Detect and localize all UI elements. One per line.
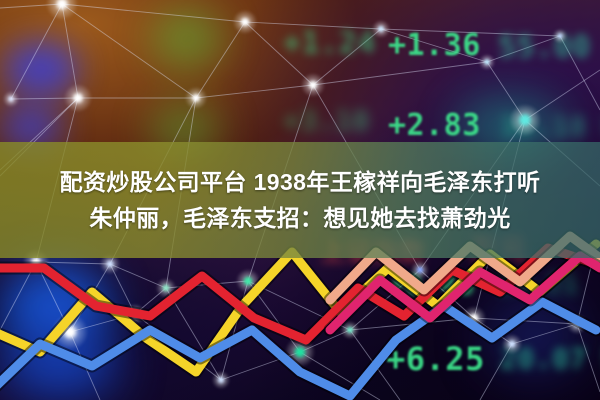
zigzag-line-shadow bbox=[0, 302, 596, 396]
thumbnail-image: +1.24+1.3655.00 W+3.10+2.8330.18 W上证指数万元… bbox=[0, 0, 600, 400]
headline-band: 配资炒股公司平台 1938年王稼祥向毛泽东打听 朱仲丽，毛泽东支招：想见她去找萧… bbox=[0, 142, 600, 258]
headline-line-1: 配资炒股公司平台 1938年王稼祥向毛泽东打听 bbox=[60, 165, 541, 199]
headline-line-2: 朱仲丽，毛泽东支招：想见她去找萧劲光 bbox=[89, 201, 510, 235]
zigzag-line-blue-line bbox=[0, 302, 596, 396]
